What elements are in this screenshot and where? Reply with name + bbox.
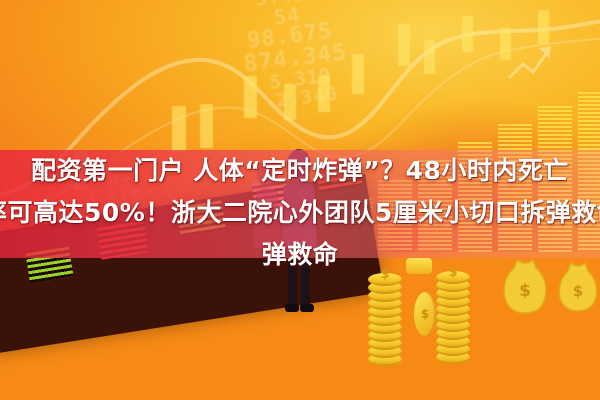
candlestick [200, 104, 213, 148]
headline-line-2: 率可高达50%！浙大二院心外团队5厘米小切口拆弹救命 [0, 192, 600, 234]
chevron-up-icon [505, 44, 555, 84]
coin-single: $ [414, 292, 436, 336]
candlestick [424, 40, 435, 74]
headline-text: 配资第一门户 人体“定时炸弹”？48小时内死亡 率可高达50%！浙大二院心外团队… [0, 150, 600, 290]
candlestick [244, 76, 257, 118]
candlestick [172, 106, 186, 152]
candlestick [398, 24, 410, 66]
candlestick [284, 84, 296, 120]
candlestick [538, 10, 549, 44]
headline-line-1: 配资第一门户 人体“定时炸弹”？48小时内死亡 [0, 150, 600, 192]
candlestick [352, 54, 364, 94]
candlestick [462, 16, 473, 52]
news-thumbnail-image: 23.453 5.431 54 98.675 874.345 5.319 2.3… [0, 0, 600, 400]
candlestick [318, 76, 330, 112]
headline-line-3: 弹救命 [0, 234, 600, 276]
